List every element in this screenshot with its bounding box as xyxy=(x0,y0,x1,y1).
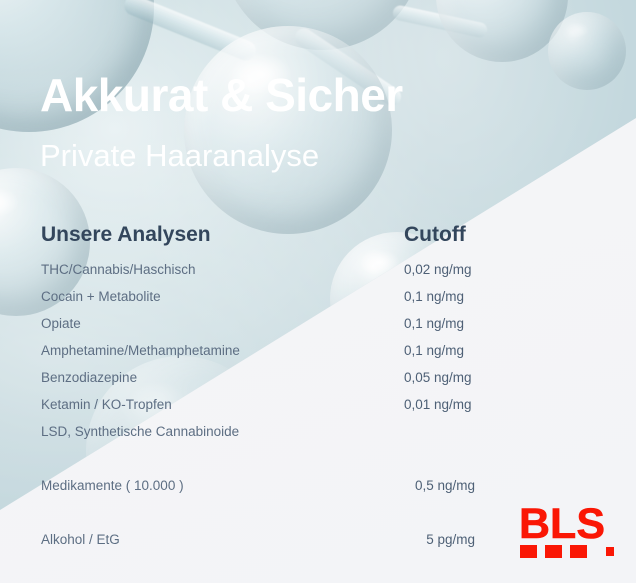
logo-square-small xyxy=(606,547,614,556)
bls-logo: BLS xyxy=(519,505,617,561)
analysis-label: Cocain + Metabolite xyxy=(41,288,161,306)
cutoff-value: 0,1 ng/mg xyxy=(404,288,464,306)
logo-square xyxy=(520,545,537,558)
analysis-label: Alkohol / EtG xyxy=(41,531,120,549)
table-row: THC/Cannabis/Haschisch0,02 ng/mg xyxy=(0,261,636,279)
cutoff-value: 0,01 ng/mg xyxy=(404,396,472,414)
cutoff-value: 5 pg/mg xyxy=(340,531,475,549)
bls-wordmark: BLS xyxy=(519,505,617,543)
table-row: LSD, Synthetische Cannabinoide xyxy=(0,423,636,441)
table-row: Ketamin / KO-Tropfen0,01 ng/mg xyxy=(0,396,636,414)
table-row: Benzodiazepine0,05 ng/mg xyxy=(0,369,636,387)
analysis-label: Medikamente ( 10.000 ) xyxy=(41,477,184,495)
bls-logo-squares xyxy=(520,545,617,558)
table-row: Cocain + Metabolite0,1 ng/mg xyxy=(0,288,636,306)
poster-canvas: Akkurat & Sicher Private Haaranalyse Uns… xyxy=(0,0,636,583)
logo-square xyxy=(570,545,587,558)
column-header-analyses: Unsere Analysen xyxy=(41,224,211,245)
poster-subtitle: Private Haaranalyse xyxy=(40,140,319,171)
column-header-cutoff: Cutoff xyxy=(404,224,466,245)
cutoff-value: 0,05 ng/mg xyxy=(404,369,472,387)
analysis-label: Amphetamine/Methamphetamine xyxy=(41,342,240,360)
analysis-label: THC/Cannabis/Haschisch xyxy=(41,261,196,279)
cutoff-value: 0,5 ng/mg xyxy=(340,477,475,495)
poster-content: Akkurat & Sicher Private Haaranalyse Uns… xyxy=(0,0,636,583)
analysis-label: LSD, Synthetische Cannabinoide xyxy=(41,423,239,441)
analysis-label: Ketamin / KO-Tropfen xyxy=(41,396,172,414)
analysis-label: Opiate xyxy=(41,315,81,333)
cutoff-value: 0,1 ng/mg xyxy=(404,342,464,360)
cutoff-value: 0,02 ng/mg xyxy=(404,261,472,279)
poster-title: Akkurat & Sicher xyxy=(40,72,403,118)
cutoff-value: 0,1 ng/mg xyxy=(404,315,464,333)
analysis-label: Benzodiazepine xyxy=(41,369,137,387)
table-row: Amphetamine/Methamphetamine0,1 ng/mg xyxy=(0,342,636,360)
table-row: Medikamente ( 10.000 )0,5 ng/mg xyxy=(0,477,636,495)
logo-square xyxy=(545,545,562,558)
table-row: Opiate0,1 ng/mg xyxy=(0,315,636,333)
